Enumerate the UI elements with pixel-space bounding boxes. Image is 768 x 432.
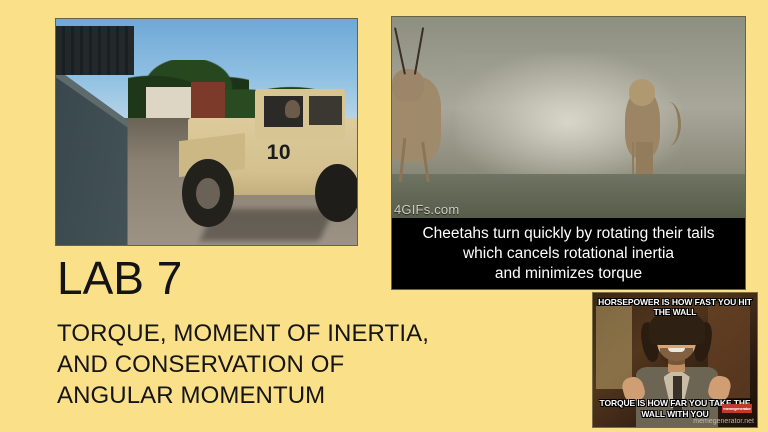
slide-title: LAB 7 — [57, 255, 477, 301]
humvee-driver — [285, 100, 300, 118]
caption-line-1: Cheetahs turn quickly by rotating their … — [422, 224, 714, 244]
gazelle-horn-left — [394, 27, 406, 75]
humvee-window-rear — [309, 96, 342, 125]
memegenerator-logo: memegenerator — [722, 404, 752, 413]
caption-line-3: and minimizes torque — [495, 264, 642, 284]
background-fence — [56, 26, 134, 76]
gazelle-horn-right — [414, 27, 424, 75]
subtitle-line-1: TORQUE, MOMENT OF INERTIA, — [57, 318, 477, 349]
humvee-front-wheel — [182, 159, 233, 227]
subtitle-line-3: ANGULAR MOMENTUM — [57, 380, 477, 411]
meme-person-mouth — [668, 348, 684, 352]
slide-canvas: 10 4GIFs.com Cheetahs turn quickly by ro… — [0, 0, 768, 432]
humvee-rear-wheel — [315, 164, 358, 223]
caption-line-2: which cancels rotational inertia — [463, 244, 674, 264]
cheetah-legs — [632, 142, 653, 174]
slide-subtitle: TORQUE, MOMENT OF INERTIA, AND CONSERVAT… — [57, 318, 477, 412]
gif-source-watermark: 4GIFs.com — [394, 202, 459, 217]
cheetah-tail — [657, 102, 681, 146]
cheetah-gif-panel: 4GIFs.com Cheetahs turn quickly by rotat… — [391, 16, 746, 290]
cheetah-gif-image: 4GIFs.com — [392, 17, 745, 218]
memegenerator-watermark: memegenerator.net — [693, 418, 754, 425]
cheetah-head — [629, 79, 655, 105]
humvee-wall-photo: 10 — [55, 18, 358, 246]
title-block: LAB 7 TORQUE, MOMENT OF INERTIA, AND CON… — [57, 255, 477, 412]
gazelle-head — [392, 69, 424, 101]
humvee-door-number: 10 — [267, 141, 291, 165]
meme-top-text: HORSEPOWER IS HOW FAST YOU HIT THE WALL — [593, 297, 757, 318]
subtitle-line-2: AND CONSERVATION OF — [57, 349, 477, 380]
meme-wall-panel-left — [596, 306, 632, 389]
ancient-aliens-meme: HORSEPOWER IS HOW FAST YOU HIT THE WALL … — [592, 292, 758, 428]
